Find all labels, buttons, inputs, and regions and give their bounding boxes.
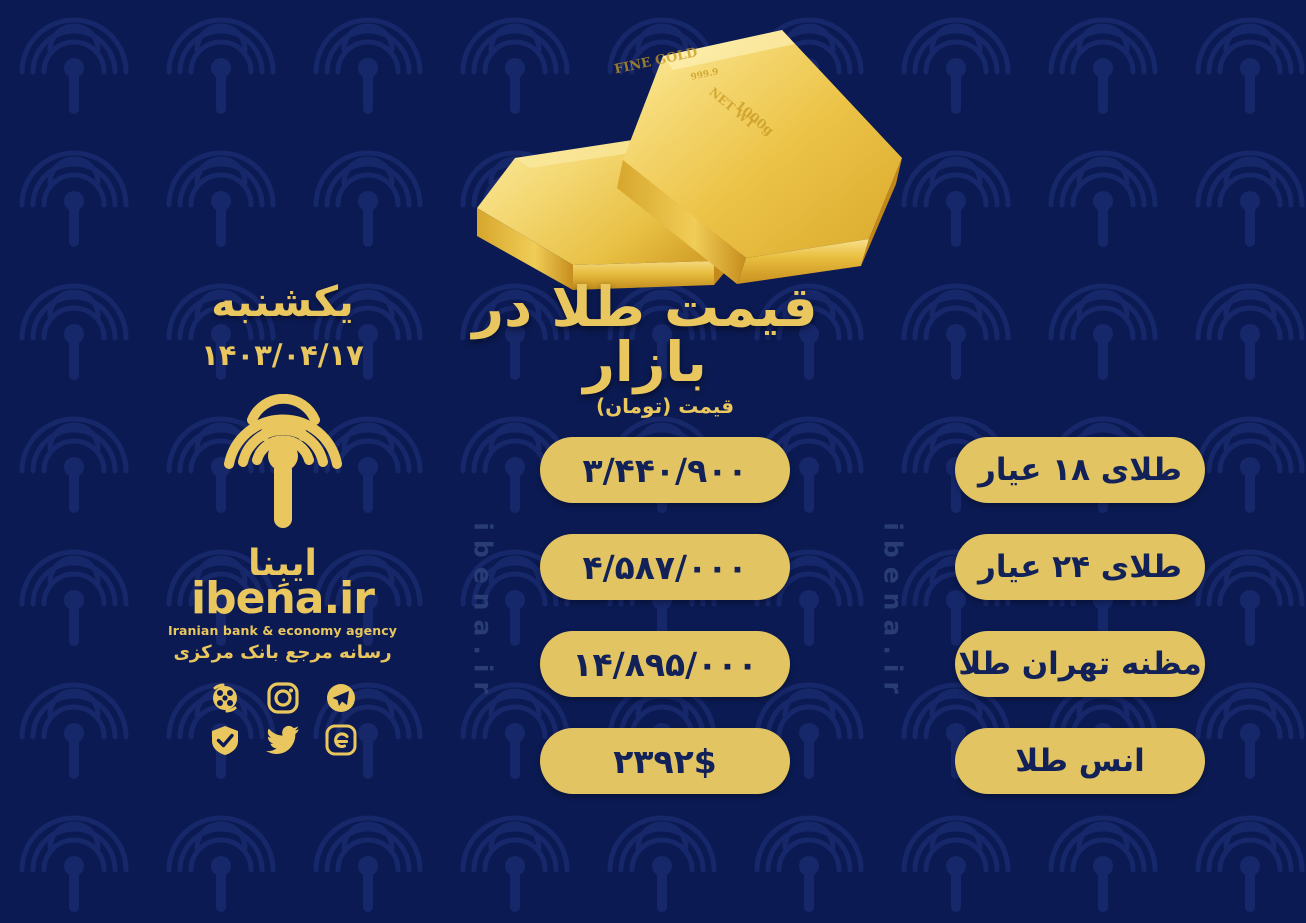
price-column: ۳/۴۴۰/۹۰۰ ۴/۵۸۷/۰۰۰ ۱۴/۸۹۵/۰۰۰ ۲۳۹۲$ [540, 437, 790, 825]
date-label: ۱۴۰۳/۰۴/۱۷ [150, 338, 415, 372]
label-column: طلای ۱۸ عیار طلای ۲۴ عیار مظنه تهران طلا… [955, 437, 1205, 825]
item-label-pill[interactable]: طلای ۱۸ عیار [955, 437, 1205, 503]
price-pill[interactable]: ۴/۵۸۷/۰۰۰ [540, 534, 790, 600]
brand-logo: ایبِنا ibena.ir Iranian bank & economy a… [150, 394, 415, 663]
item-label-pill[interactable]: انس طلا [955, 728, 1205, 794]
eitaa-icon[interactable] [321, 720, 361, 760]
price-pill[interactable]: ۳/۴۴۰/۹۰۰ [540, 437, 790, 503]
watermark-right-text: ibena.ir [879, 522, 908, 702]
ibena-signal-logo-icon [217, 394, 349, 544]
watermark-left-text: ibena.ir [469, 522, 498, 702]
price-pill[interactable]: ۲۳۹۲$ [540, 728, 790, 794]
aparat-icon[interactable] [205, 678, 245, 718]
brand-column: یکشنبه ۱۴۰۳/۰۴/۱۷ ایبِنا ibena.ir Irania… [150, 280, 415, 761]
brand-tagline-fa: رسانه مرجع بانک مرکزی [173, 642, 391, 663]
weekday-label: یکشنبه [150, 280, 415, 324]
twitter-icon[interactable] [263, 720, 303, 760]
gold-price-poster: FINE GOLD 999.9 NET WT 1000g قیمت طلا در… [0, 0, 1306, 923]
page-title: قیمت طلا در بازار [450, 280, 840, 390]
brand-tagline-en: Iranian bank & economy agency [168, 623, 397, 638]
item-label-pill[interactable]: مظنه تهران طلا [955, 631, 1205, 697]
instagram-icon[interactable] [263, 678, 303, 718]
watermark-left: ibena.ir [466, 432, 500, 792]
price-column-header: قیمت (تومان) [540, 394, 790, 418]
social-links [150, 677, 415, 761]
gold-bars-illustration: FINE GOLD 999.9 NET WT 1000g [455, 8, 925, 293]
item-label-pill[interactable]: طلای ۲۴ عیار [955, 534, 1205, 600]
bale-icon[interactable] [205, 720, 245, 760]
price-pill[interactable]: ۱۴/۸۹۵/۰۰۰ [540, 631, 790, 697]
brand-name-latin: ibena.ir [191, 578, 374, 620]
watermark-right: ibena.ir [876, 432, 910, 792]
telegram-icon[interactable] [321, 678, 361, 718]
